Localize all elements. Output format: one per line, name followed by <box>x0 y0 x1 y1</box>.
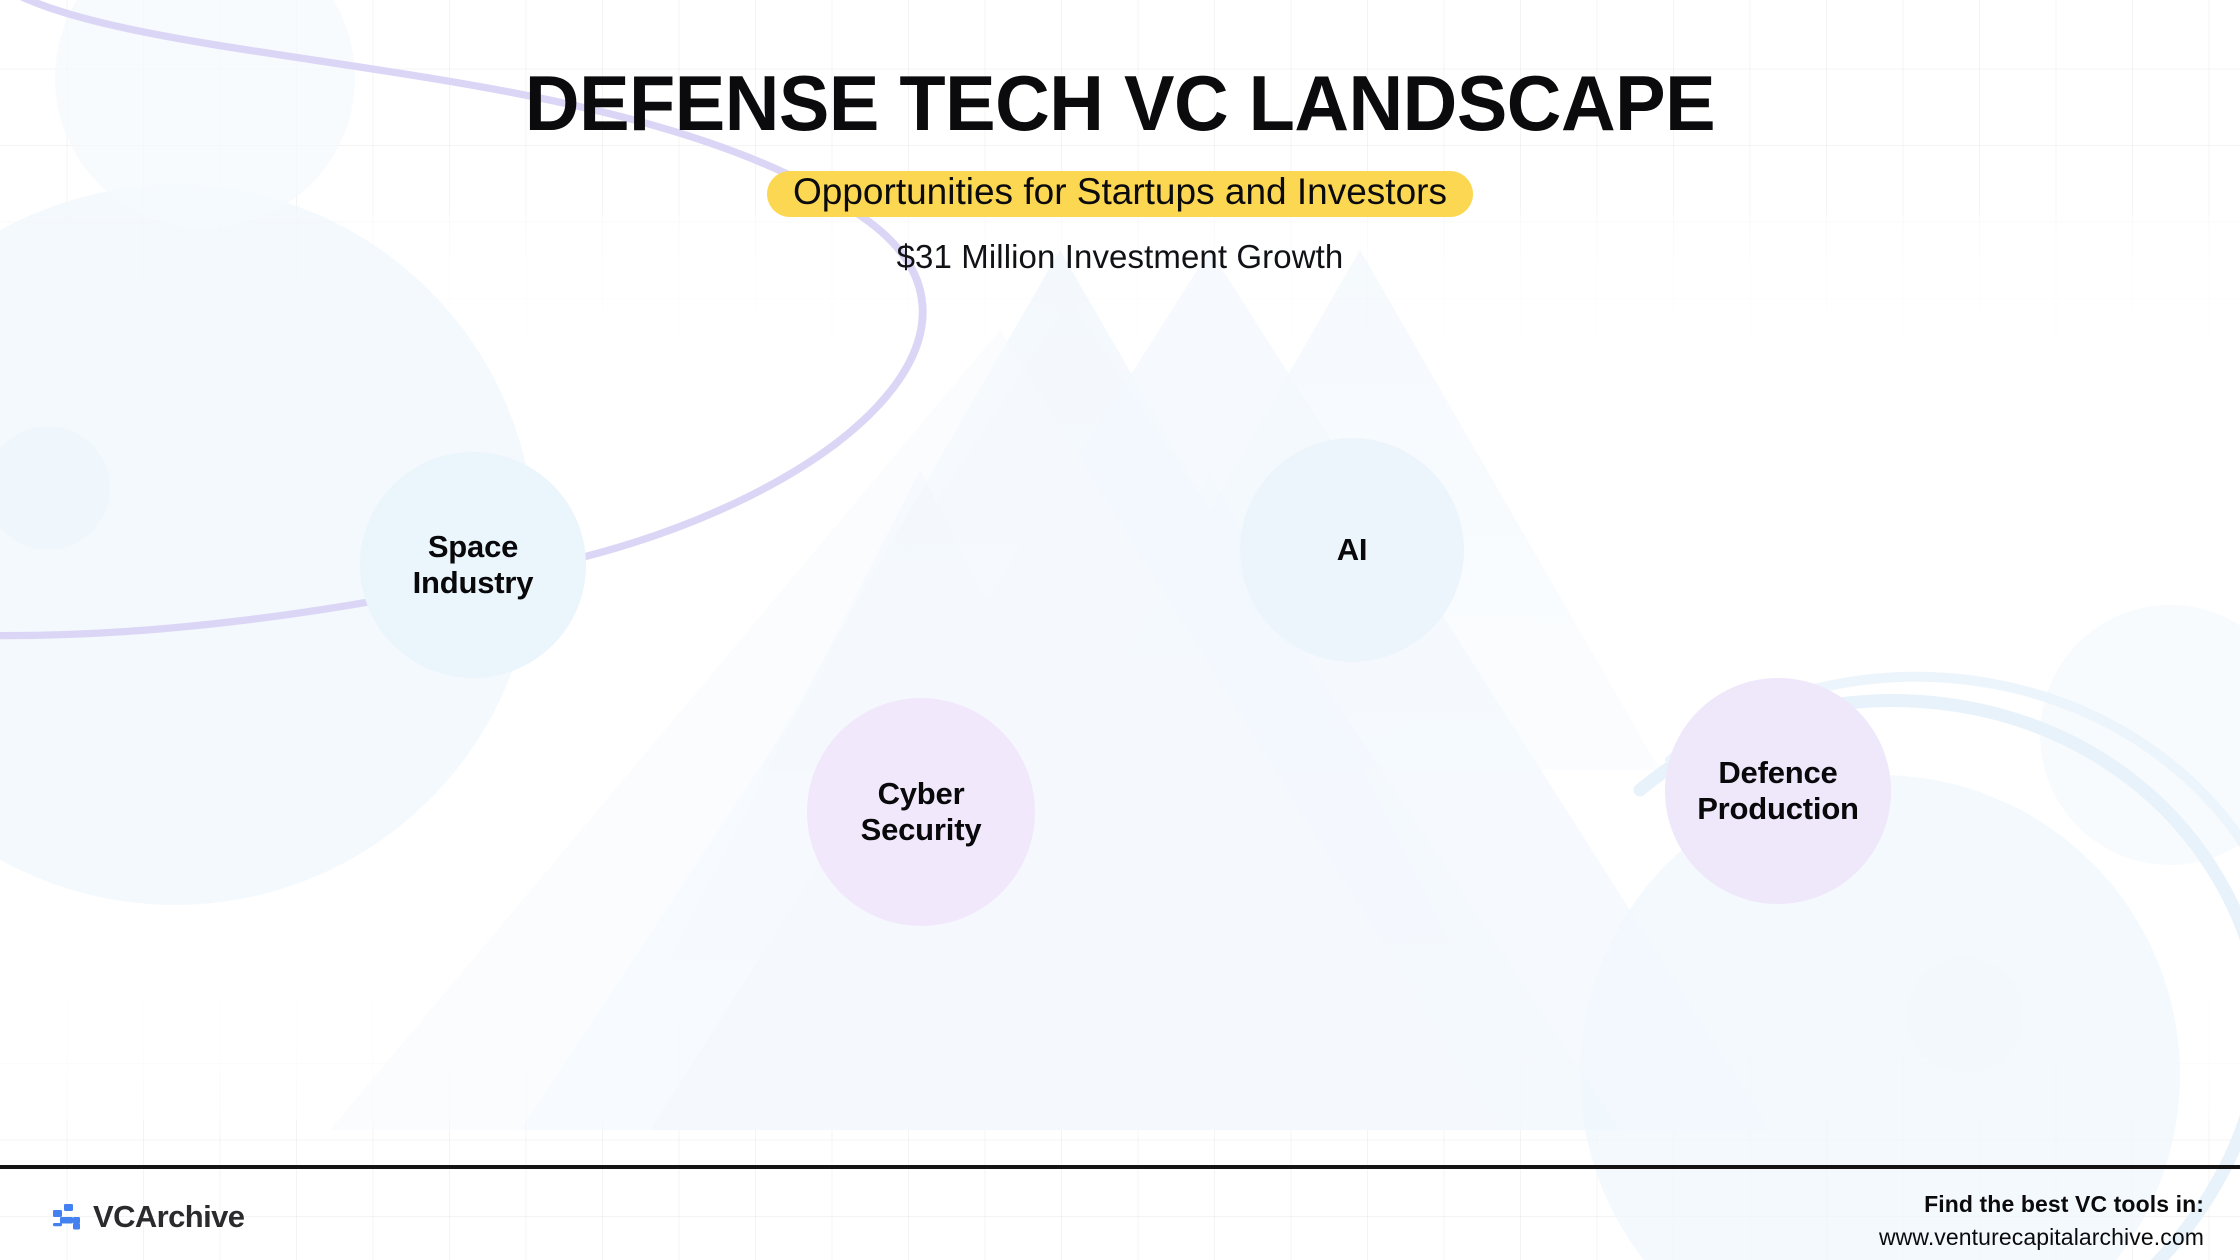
brand-name: VCArchive <box>93 1199 244 1235</box>
footer-website[interactable]: www.venturecapitalarchive.com <box>1879 1224 2204 1251</box>
bubble-ai[interactable]: AI <box>1240 438 1464 662</box>
footer-cta: Find the best VC tools in: www.ventureca… <box>1879 1191 2204 1251</box>
page-tagline: $31 Million Investment Growth <box>0 238 2240 276</box>
subtitle-row: Opportunities for Startups and Investors <box>0 167 2240 220</box>
bubble-label-cyber-security: Cyber Security <box>861 776 982 848</box>
stair-step-chart-icon <box>52 1203 86 1231</box>
subtitle-text: Opportunities for Startups and Investors <box>793 171 1447 212</box>
bubble-label-defence-production: Defence Production <box>1697 755 1859 827</box>
background-grid-mask <box>0 215 2240 1120</box>
mountain-shape <box>330 250 1770 1130</box>
footer-bar: VCArchive Find the best VC tools in: www… <box>0 1169 2240 1260</box>
footer-cta-label: Find the best VC tools in: <box>1879 1191 2204 1218</box>
brand-logo[interactable]: VCArchive <box>52 1199 244 1235</box>
blob-right-small <box>1907 957 2023 1073</box>
bubble-defence-production[interactable]: Defence Production <box>1665 678 1891 904</box>
page-subtitle: Opportunities for Startups and Investors <box>779 167 1461 220</box>
bubble-space-industry[interactable]: Space Industry <box>360 452 586 678</box>
bubble-label-space-industry: Space Industry <box>413 529 534 601</box>
bubble-cyber-security[interactable]: Cyber Security <box>807 698 1035 926</box>
bubble-label-ai: AI <box>1337 532 1368 568</box>
blob-left-small <box>0 426 110 550</box>
header-block: DEFENSE TECH VC LANDSCAPE Opportunities … <box>0 62 2240 276</box>
slide-canvas: DEFENSE TECH VC LANDSCAPE Opportunities … <box>0 0 2240 1260</box>
blob-right-mid <box>2040 605 2240 865</box>
page-title: DEFENSE TECH VC LANDSCAPE <box>34 62 2207 145</box>
